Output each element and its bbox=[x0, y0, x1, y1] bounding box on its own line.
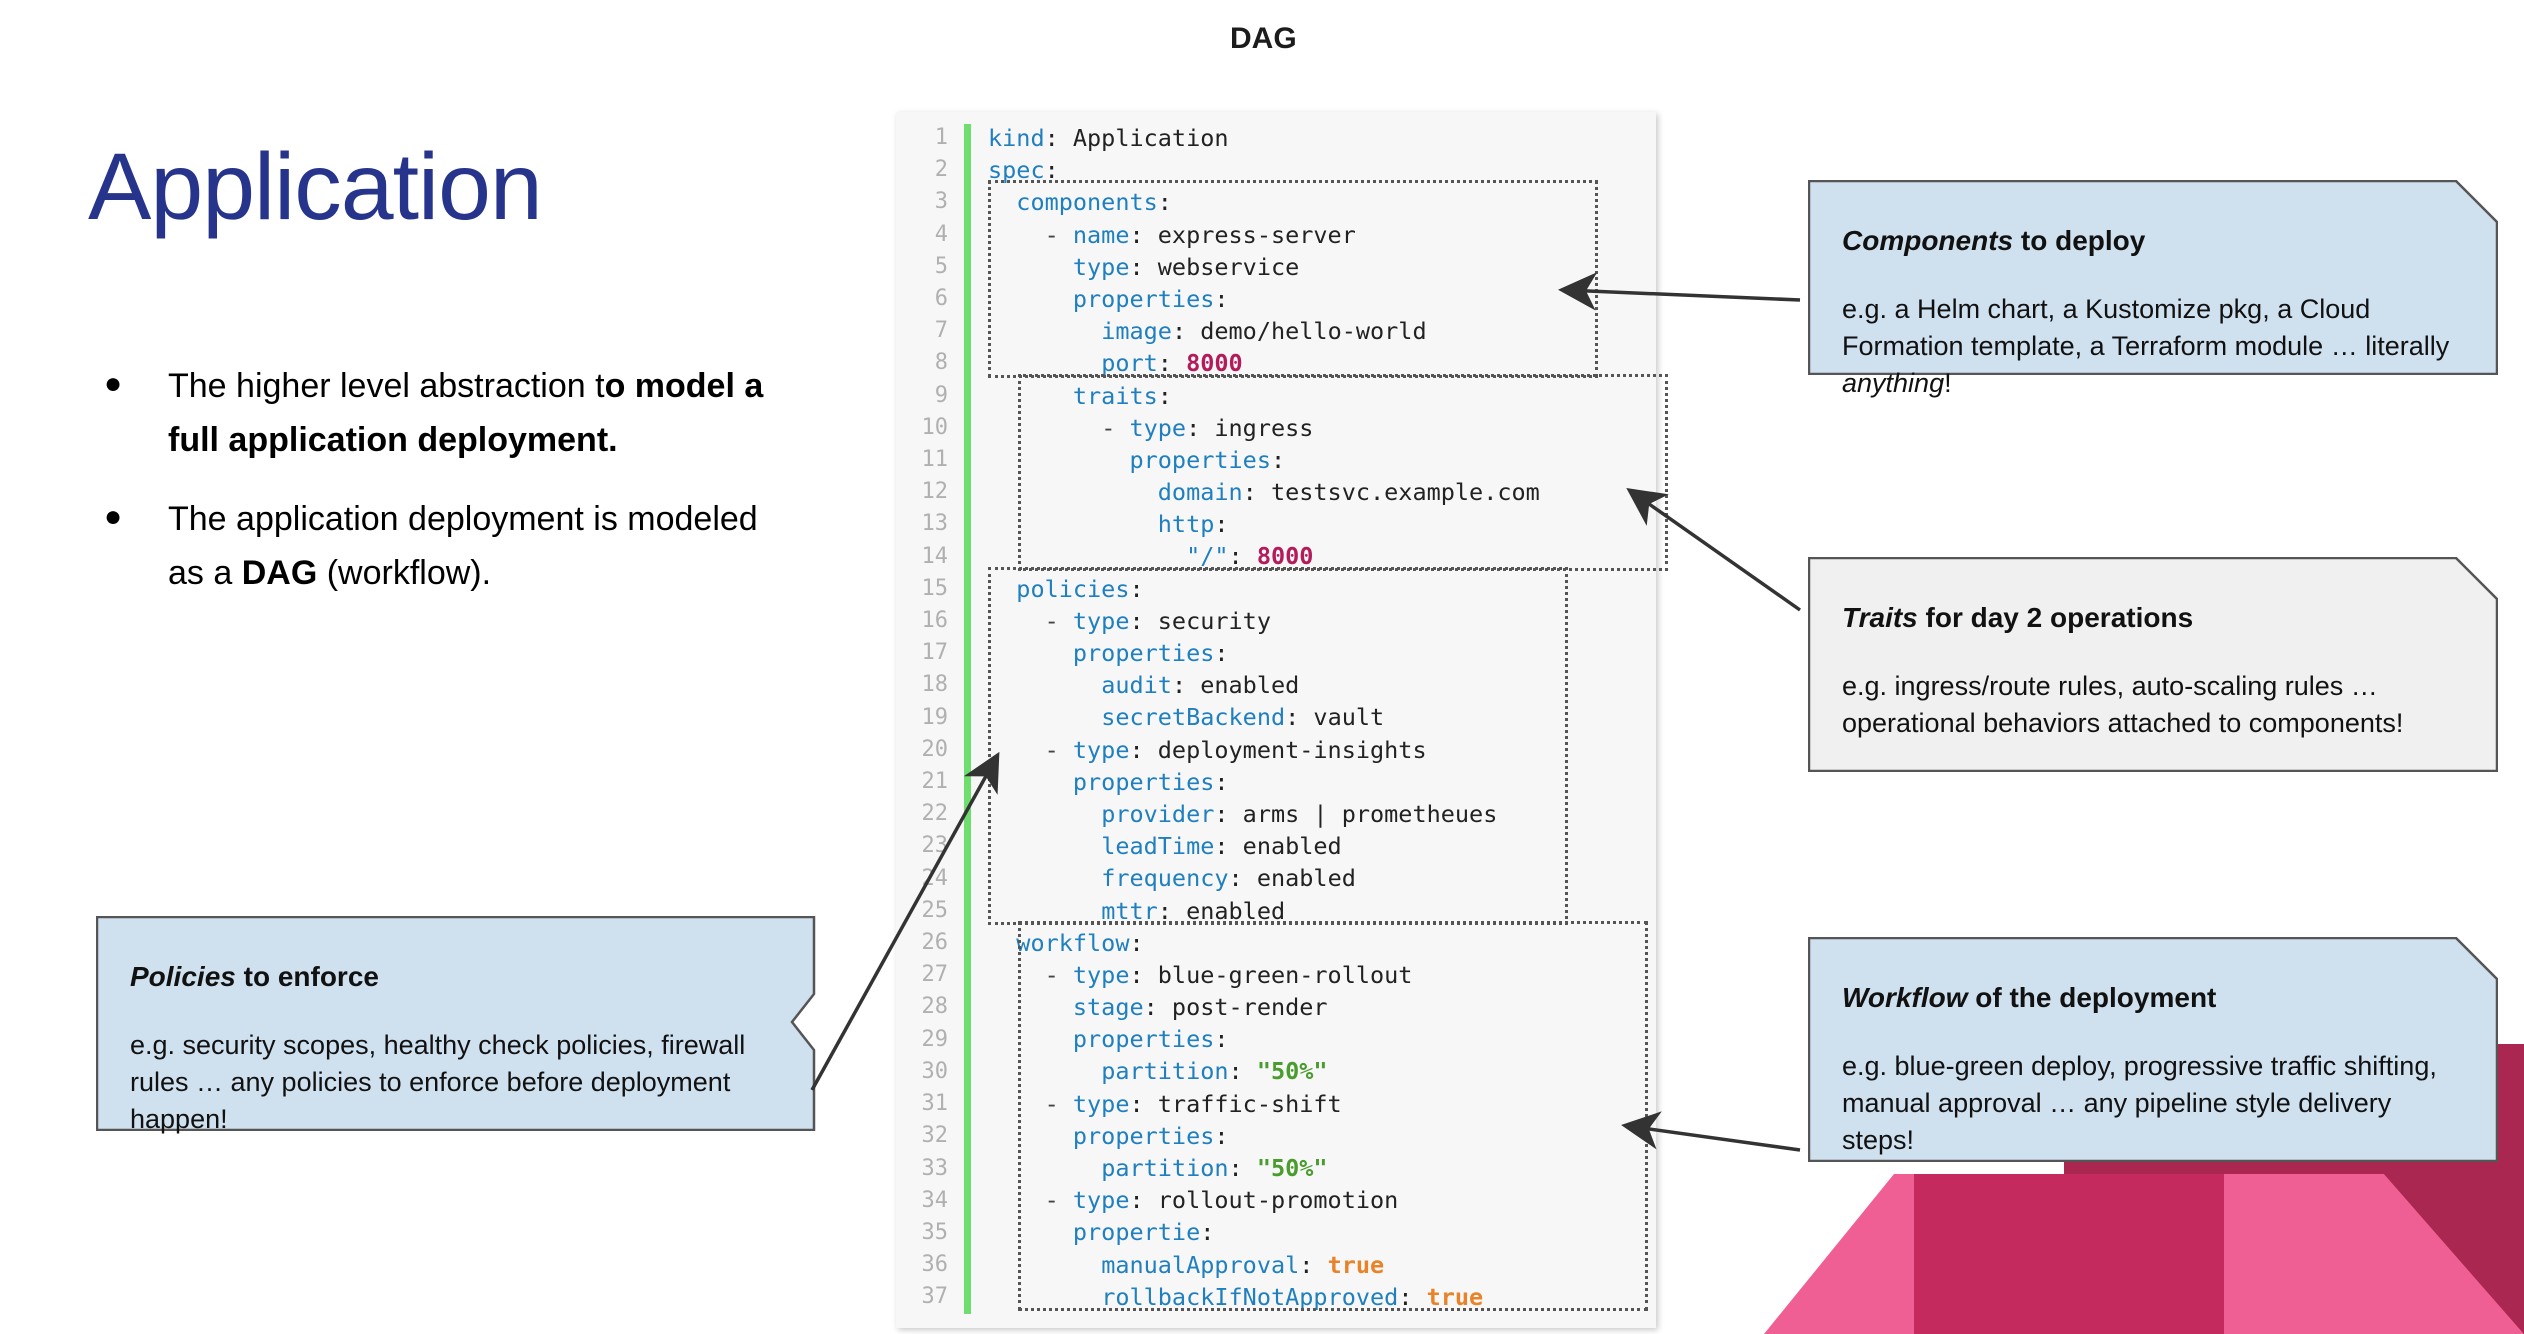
code-line-number: 9 bbox=[896, 380, 948, 412]
code-line: http: bbox=[988, 508, 1652, 540]
code-line: manualApproval: true bbox=[988, 1249, 1652, 1281]
code-line: mttr: enabled bbox=[988, 895, 1652, 927]
callout-workflow: Workflow of the deployment e.g. blue-gre… bbox=[1808, 937, 2498, 1162]
code-line: components: bbox=[988, 186, 1652, 218]
callout-heading: Workflow of the deployment bbox=[1842, 979, 2458, 1018]
callout-body: e.g. a Helm chart, a Kustomize pkg, a Cl… bbox=[1842, 291, 2458, 403]
code-line: properties: bbox=[988, 766, 1652, 798]
code-line-number: 6 bbox=[896, 283, 948, 315]
code-line-number: 24 bbox=[896, 863, 948, 895]
slide-canvas: Application ● The higher level abstracti… bbox=[0, 0, 2524, 1334]
callout-components: Components to deploy e.g. a Helm chart, … bbox=[1808, 180, 2498, 375]
code-line-number: 21 bbox=[896, 766, 948, 798]
code-line: - type: deployment-insights bbox=[988, 734, 1652, 766]
code-line-number: 18 bbox=[896, 669, 948, 701]
code-line-number: 27 bbox=[896, 959, 948, 991]
code-line: properties: bbox=[988, 1120, 1652, 1152]
dag-heading: DAG bbox=[1230, 22, 1297, 56]
code-line-number: 5 bbox=[896, 251, 948, 283]
code-line-number: 31 bbox=[896, 1088, 948, 1120]
code-line-number: 15 bbox=[896, 573, 948, 605]
code-line-number: 32 bbox=[896, 1120, 948, 1152]
code-line: - name: express-server bbox=[988, 219, 1652, 251]
code-line: - type: security bbox=[988, 605, 1652, 637]
bullet-marker: ● bbox=[96, 493, 168, 540]
code-line-number: 34 bbox=[896, 1185, 948, 1217]
code-line: partition: "50%" bbox=[988, 1055, 1652, 1087]
callout-traits: Traits for day 2 operations e.g. ingress… bbox=[1808, 557, 2498, 772]
code-line-number: 20 bbox=[896, 734, 948, 766]
code-line-number: 29 bbox=[896, 1024, 948, 1056]
code-line: policies: bbox=[988, 573, 1652, 605]
code-line-number: 1 bbox=[896, 122, 948, 154]
bullet-list: ● The higher level abstraction to model … bbox=[96, 360, 796, 627]
code-line-number: 17 bbox=[896, 637, 948, 669]
code-line-number: 7 bbox=[896, 315, 948, 347]
code-line: provider: arms | prometheues bbox=[988, 798, 1652, 830]
code-line-number: 3 bbox=[896, 186, 948, 218]
bullet-text: The application deployment is modeled as… bbox=[168, 493, 796, 600]
arrow-traits bbox=[1632, 492, 1800, 610]
code-line: "/": 8000 bbox=[988, 540, 1652, 572]
yaml-code-panel: 1234567891011121314151617181920212223242… bbox=[896, 112, 1656, 1328]
code-line-number: 13 bbox=[896, 508, 948, 540]
code-line: - type: traffic-shift bbox=[988, 1088, 1652, 1120]
code-line: - type: ingress bbox=[988, 412, 1652, 444]
code-line: kind: Application bbox=[988, 122, 1652, 154]
code-line-number: 36 bbox=[896, 1249, 948, 1281]
code-line: leadTime: enabled bbox=[988, 830, 1652, 862]
code-line: port: 8000 bbox=[988, 347, 1652, 379]
code-line-number: 8 bbox=[896, 347, 948, 379]
callout-body: e.g. blue-green deploy, progressive traf… bbox=[1842, 1048, 2458, 1160]
code-line-number: 35 bbox=[896, 1217, 948, 1249]
list-item: ● The application deployment is modeled … bbox=[96, 493, 796, 600]
code-line: properties: bbox=[988, 444, 1652, 476]
callout-heading: Components to deploy bbox=[1842, 222, 2458, 261]
code-line: audit: enabled bbox=[988, 669, 1652, 701]
callout-body: e.g. security scopes, healthy check poli… bbox=[130, 1027, 776, 1139]
callout-body: e.g. ingress/route rules, auto-scaling r… bbox=[1842, 668, 2458, 743]
page-title: Application bbox=[88, 138, 542, 238]
code-line-number: 19 bbox=[896, 702, 948, 734]
code-line-number: 4 bbox=[896, 219, 948, 251]
bullet-marker: ● bbox=[96, 360, 168, 407]
code-line: properties: bbox=[988, 283, 1652, 315]
bullet-text: The higher level abstraction to model a … bbox=[168, 360, 796, 467]
code-line: properties: bbox=[988, 637, 1652, 669]
code-line-number: 33 bbox=[896, 1153, 948, 1185]
code-line-numbers: 1234567891011121314151617181920212223242… bbox=[896, 122, 948, 1314]
code-line-number: 28 bbox=[896, 991, 948, 1023]
code-line: image: demo/hello-world bbox=[988, 315, 1652, 347]
code-line: domain: testsvc.example.com bbox=[988, 476, 1652, 508]
code-line-number: 10 bbox=[896, 412, 948, 444]
code-line: type: webservice bbox=[988, 251, 1652, 283]
code-line: - type: rollout-promotion bbox=[988, 1184, 1652, 1216]
code-line-number: 23 bbox=[896, 830, 948, 862]
code-line: frequency: enabled bbox=[988, 862, 1652, 894]
code-line: propertie: bbox=[988, 1216, 1652, 1248]
code-line-number: 30 bbox=[896, 1056, 948, 1088]
callout-heading: Traits for day 2 operations bbox=[1842, 599, 2458, 638]
code-line-number: 11 bbox=[896, 444, 948, 476]
code-line: stage: post-render bbox=[988, 991, 1652, 1023]
code-line-number: 22 bbox=[896, 798, 948, 830]
code-line-number: 12 bbox=[896, 476, 948, 508]
code-content: kind: Applicationspec: components: - nam… bbox=[988, 122, 1652, 1313]
code-line-number: 16 bbox=[896, 605, 948, 637]
code-line-number: 26 bbox=[896, 927, 948, 959]
callout-heading: Policies to enforce bbox=[130, 958, 776, 997]
code-line: - type: blue-green-rollout bbox=[988, 959, 1652, 991]
code-line: rollbackIfNotApproved: true bbox=[988, 1281, 1652, 1313]
code-line: workflow: bbox=[988, 927, 1652, 959]
list-item: ● The higher level abstraction to model … bbox=[96, 360, 796, 467]
code-line-number: 14 bbox=[896, 541, 948, 573]
code-line-number: 37 bbox=[896, 1281, 948, 1313]
code-line: traits: bbox=[988, 380, 1652, 412]
callout-policies: Policies to enforce e.g. security scopes… bbox=[96, 916, 816, 1131]
code-accent-bar bbox=[964, 124, 971, 1314]
code-line-number: 25 bbox=[896, 895, 948, 927]
code-line: secretBackend: vault bbox=[988, 701, 1652, 733]
code-line-number: 2 bbox=[896, 154, 948, 186]
code-line: spec: bbox=[988, 154, 1652, 186]
code-line: properties: bbox=[988, 1023, 1652, 1055]
code-line: partition: "50%" bbox=[988, 1152, 1652, 1184]
